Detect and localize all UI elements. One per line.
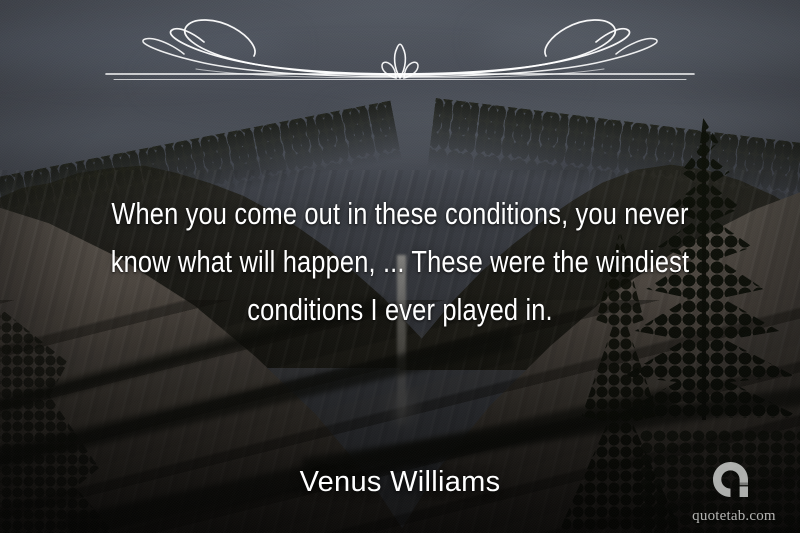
quote-author-name: Venus Williams bbox=[0, 466, 800, 499]
flourish-divider-icon bbox=[100, 12, 700, 90]
watermark[interactable]: quotetab.com bbox=[682, 460, 786, 525]
watermark-text: quotetab.com bbox=[682, 508, 786, 525]
quote-image-card: When you come out in these conditions, y… bbox=[0, 0, 800, 533]
quote-text: When you come out in these conditions, y… bbox=[105, 190, 695, 334]
quotetab-q-logo-icon bbox=[711, 460, 757, 506]
card-content: When you come out in these conditions, y… bbox=[0, 0, 800, 533]
